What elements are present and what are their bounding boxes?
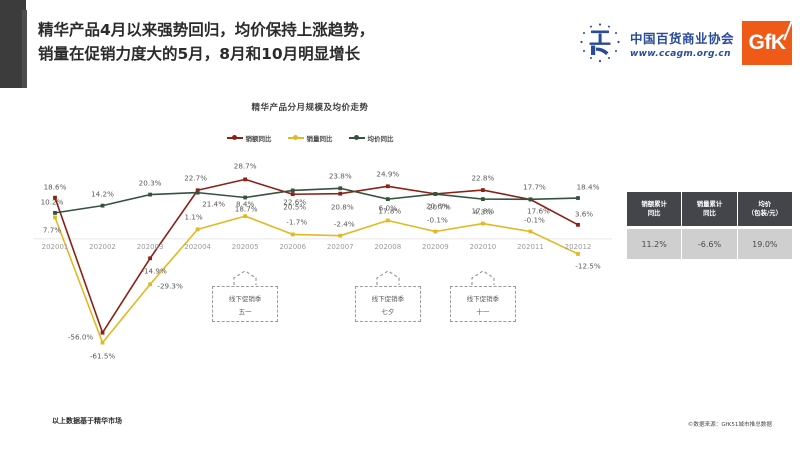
table-cell: -6.6% (682, 229, 737, 259)
chart-data-label: 17.8% (471, 207, 494, 216)
chart-data-point (243, 178, 247, 182)
table-header-cell: 销量累计 同比 (682, 192, 737, 226)
chart-data-point (53, 211, 57, 215)
chart-data-label: 24.9% (376, 170, 399, 179)
chart-data-label: 20.8% (331, 202, 354, 211)
ccagm-text-block: 中国百货商业协会 www.ccagm.org.cn (630, 28, 734, 59)
table-row: 11.2% -6.6% 19.0% (627, 229, 792, 259)
chart-data-label: 17.7% (523, 183, 546, 192)
x-axis-tick-label: 202007 (327, 243, 354, 251)
logo-zone: 中国百货商业协会 www.ccagm.org.cn GfK (578, 17, 792, 69)
x-axis-tick-label: 202010 (470, 243, 497, 251)
legend-label: 销额同比 (246, 133, 272, 143)
chart-data-label: 18.4% (577, 183, 600, 192)
header-line-1: 销量累计 (697, 200, 723, 209)
chart-data-label: -12.5% (575, 261, 600, 270)
chart-title: 精华产品分月规模及均价走势 (0, 101, 620, 113)
chart-data-point (243, 214, 247, 218)
chart-data-label: -2.4% (334, 219, 355, 228)
promo-callout[interactable]: 线下促销季十一 (450, 286, 516, 322)
chart-data-label: 1.1% (184, 213, 202, 222)
chart-data-label: 3.6% (575, 209, 593, 218)
chart-data-label: 22.6% (283, 198, 306, 207)
header-line-2: 同比 (703, 209, 716, 218)
callout-line-2: 七夕 (381, 306, 394, 316)
chart-data-point (576, 196, 580, 200)
chart-data-label: 18.6% (44, 182, 67, 191)
legend-swatch-icon (288, 135, 304, 142)
chart-data-label: 28.7% (234, 162, 257, 171)
chart-data-label: -0.1% (427, 215, 448, 224)
title-line-1: 精华产品4月以来强势回归，均价保持上涨趋势， (38, 18, 538, 42)
ccagm-emblem-icon (578, 21, 622, 65)
x-axis-tick-label: 202012 (565, 243, 592, 251)
chart-data-point (529, 230, 533, 234)
gfk-logo: GfK (742, 21, 792, 65)
footer-source: ©数据来源：GfK51城市推总数据 (688, 420, 772, 428)
chart-data-label: -0.1% (524, 215, 545, 224)
chart-data-point (291, 192, 295, 196)
chart-data-label: 17.8% (378, 207, 401, 216)
table-cell: 11.2% (627, 229, 682, 259)
association-url: www.ccagm.org.cn (630, 49, 734, 59)
chart-data-label: 18.7% (235, 205, 258, 214)
chart-data-point (101, 204, 105, 208)
callout-line-2: 五一 (239, 306, 252, 316)
chart-data-point (433, 192, 437, 196)
chart-data-label: -56.0% (68, 332, 93, 341)
chart-data-point (576, 223, 580, 227)
page-title: 精华产品4月以来强势回归，均价保持上涨趋势， 销量在促销力度大的5月，8月和10… (38, 18, 538, 66)
chart-series-line (55, 188, 578, 213)
callout-line-1: 线下促销季 (229, 293, 262, 303)
header-line-1: 均价 (758, 200, 771, 209)
chart-data-point (196, 227, 200, 231)
chart-data-label: 7.7% (43, 226, 61, 235)
association-name: 中国百货商业协会 (630, 28, 734, 47)
legend-label: 销量同比 (307, 133, 333, 143)
chart-data-label: 22.8% (471, 174, 494, 183)
chart-data-label: -61.5% (90, 351, 115, 360)
chart-legend: 销额同比 销量同比 均价同比 (0, 133, 620, 143)
x-axis-tick-label: 202005 (232, 243, 259, 251)
chart-x-axis: 2020012020022020032020042020052020062020… (0, 243, 620, 257)
callout-arrow-icon (373, 269, 403, 285)
header-line-1: 销额累计 (641, 200, 667, 209)
chart-data-point (148, 282, 152, 286)
table-header-cell: 销额累计 同比 (627, 192, 682, 226)
chart-data-label: 21.4% (202, 199, 225, 208)
chart-data-point (433, 230, 437, 234)
title-accent-bar (22, 10, 27, 88)
chart-data-label: 14.2% (91, 189, 114, 198)
x-axis-tick-label: 202002 (89, 243, 116, 251)
callout-arrow-icon (230, 269, 260, 285)
header-line-2: （包装/元） (748, 209, 782, 218)
x-axis-tick-label: 202003 (137, 243, 164, 251)
chart-data-label: -1.7% (286, 218, 307, 227)
x-axis-tick-label: 202006 (279, 243, 306, 251)
callout-line-1: 线下促销季 (467, 293, 500, 303)
chart-data-point (338, 234, 342, 238)
gfk-logo-label: GfK (749, 31, 786, 55)
legend-item-sales-value[interactable]: 销额同比 (227, 133, 272, 143)
callout-line-1: 线下促销季 (372, 293, 405, 303)
chart-data-point (481, 188, 485, 192)
chart-data-label: -14.9% (141, 267, 166, 276)
chart-data-label: -29.3% (157, 282, 182, 291)
slide-page: 精华产品4月以来强势回归，均价保持上涨趋势， 销量在促销力度大的5月，8月和10… (0, 0, 800, 450)
chart-data-label: 22.7% (184, 174, 207, 183)
x-axis-tick-label: 202009 (422, 243, 449, 251)
callout-arrow-icon (468, 269, 498, 285)
x-axis-tick-label: 202008 (374, 243, 401, 251)
chart-data-point (338, 186, 342, 190)
callout-line-2: 十一 (476, 306, 489, 316)
chart-data-point (338, 192, 342, 196)
chart-data-point (386, 197, 390, 201)
promo-callout[interactable]: 线下促销季七夕 (355, 286, 421, 322)
footer-band (0, 444, 800, 450)
chart-series-line (55, 216, 578, 342)
legend-label: 均价同比 (368, 133, 394, 143)
legend-item-avg-price[interactable]: 均价同比 (349, 133, 394, 143)
x-axis-tick-label: 202011 (517, 243, 544, 251)
x-axis-tick-label: 202001 (42, 243, 69, 251)
chart-data-label: 23.8% (329, 172, 352, 181)
chart-data-point (196, 191, 200, 195)
legend-swatch-icon (349, 135, 365, 142)
chart-data-point (386, 219, 390, 223)
table-header-cell: 均价 （包装/元） (738, 192, 792, 226)
chart-data-point (529, 197, 533, 201)
footer-note: 以上数据基于精华市场 (52, 416, 122, 426)
chart-data-point (101, 331, 105, 335)
summary-table: 销额累计 同比 销量累计 同比 均价 （包装/元） 11.2% -6.6% 19… (627, 192, 792, 259)
chart-data-point (148, 193, 152, 197)
header-line-2: 同比 (648, 209, 661, 218)
chart-data-point (53, 216, 57, 220)
chart-data-point (291, 233, 295, 237)
chart-data-point (101, 341, 105, 345)
x-axis-tick-label: 202004 (184, 243, 211, 251)
legend-item-sales-volume[interactable]: 销量同比 (288, 133, 333, 143)
chart-data-point (481, 197, 485, 201)
chart-data-point (386, 184, 390, 188)
chart-data-label: 20.3% (139, 178, 162, 187)
legend-swatch-icon (227, 135, 243, 142)
chart-data-label: 10.2% (41, 197, 64, 206)
table-cell: 19.0% (738, 229, 792, 259)
table-header-row: 销额累计 同比 销量累计 同比 均价 （包装/元） (627, 192, 792, 226)
chart-data-label: 20.6% (426, 202, 449, 211)
promo-callout[interactable]: 线下促销季五一 (212, 286, 278, 322)
title-line-2: 销量在促销力度大的5月，8月和10月明显增长 (38, 42, 538, 66)
chart-data-point (481, 222, 485, 226)
chart-data-point (291, 189, 295, 193)
